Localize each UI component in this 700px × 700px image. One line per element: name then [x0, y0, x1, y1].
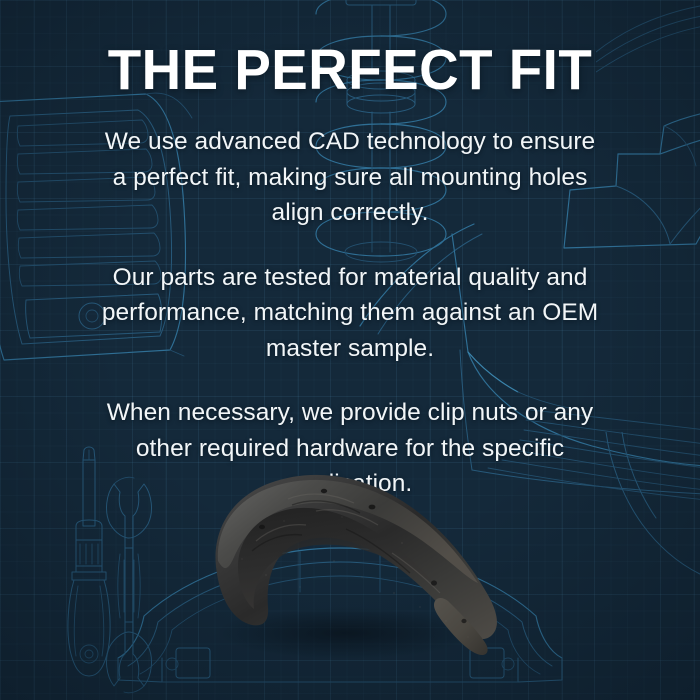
page-title: THE PERFECT FIT — [14, 42, 686, 99]
body-copy: We use advanced CAD technology to ensure… — [96, 124, 604, 502]
body-paragraph-1: We use advanced CAD technology to ensure… — [96, 124, 604, 231]
body-paragraph-2: Our parts are tested for material qualit… — [96, 260, 604, 367]
lower-right-contour-blueprint — [600, 432, 700, 582]
product-image-fender-liner — [196, 455, 516, 665]
open-end-wrench-blueprint — [100, 470, 158, 700]
perfect-fit-infographic: THE PERFECT FIT We use advanced CAD tech… — [0, 0, 700, 700]
